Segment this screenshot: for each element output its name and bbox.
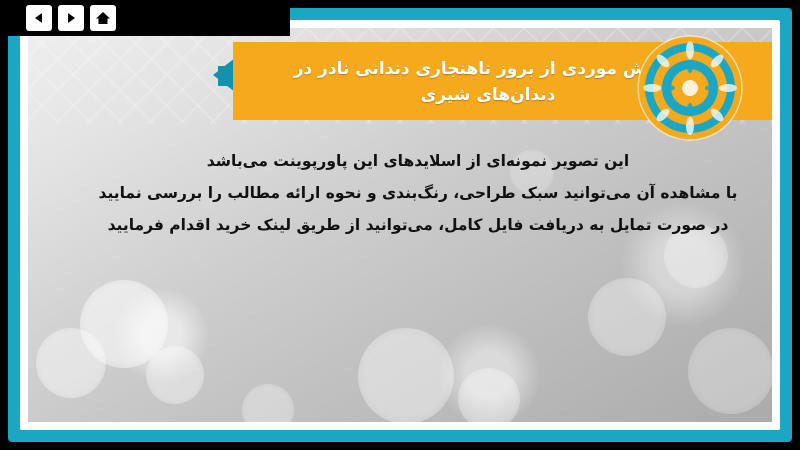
- body-line-1: این تصویر نمونه‌ای از اسلایدهای این پاور…: [68, 146, 768, 178]
- title-ribbon-tail: [213, 58, 235, 92]
- slide-body-text: این تصویر نمونه‌ای از اسلایدهای این پاور…: [68, 146, 768, 241]
- bokeh-circle: [36, 328, 106, 398]
- home-button[interactable]: [90, 5, 116, 31]
- bokeh-circle: [458, 368, 520, 422]
- bokeh-circle: [80, 280, 168, 368]
- bokeh-circle: [688, 328, 772, 414]
- slideshow-navigation-bar: [0, 0, 290, 36]
- body-line-2: با مشاهده آن می‌توانید سبک طراحی، رنگ‌بن…: [68, 178, 768, 210]
- bokeh-circle: [146, 346, 204, 404]
- bokeh-circle: [242, 384, 294, 422]
- medallion-ornament-icon: [636, 34, 744, 142]
- home-icon: [95, 10, 111, 26]
- body-line-3: در صورت تمایل به دریافت فایل کامل، می‌تو…: [68, 210, 768, 242]
- triangle-left-icon: [32, 11, 46, 25]
- triangle-right-icon: [64, 11, 78, 25]
- slide-title-line-1: گزارش موردی از بروز ناهنجاری دندانی نادر…: [294, 56, 683, 82]
- bokeh-circle: [588, 278, 666, 356]
- previous-slide-button[interactable]: [26, 5, 52, 31]
- slide-content-panel: گزارش موردی از بروز ناهنجاری دندانی نادر…: [28, 28, 772, 422]
- presentation-slide: گزارش موردی از بروز ناهنجاری دندانی نادر…: [0, 0, 800, 450]
- slide-title-line-2: دندان‌های شیری: [421, 82, 556, 108]
- bokeh-circle: [358, 328, 454, 422]
- next-slide-button[interactable]: [58, 5, 84, 31]
